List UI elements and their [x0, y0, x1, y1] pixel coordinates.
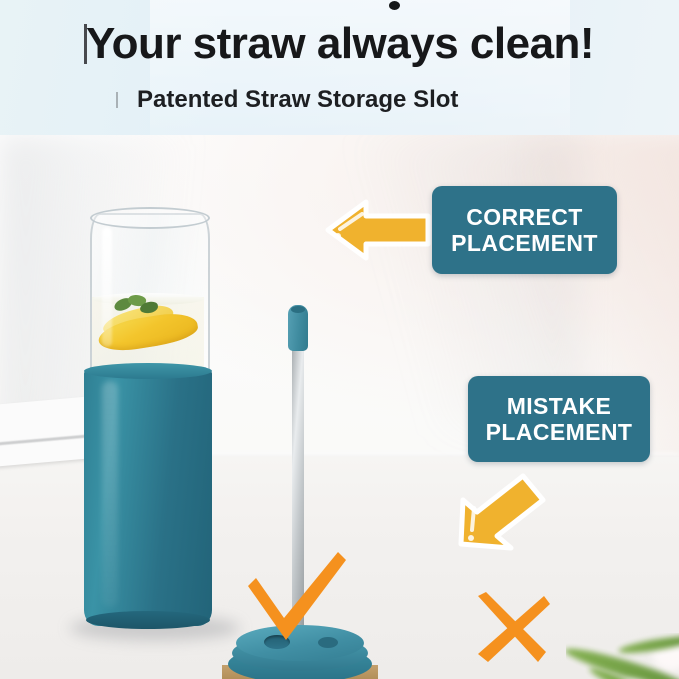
straw-tip-opening — [291, 306, 305, 313]
badge-correct-line1: CORRECT — [451, 204, 598, 230]
subtitle-accent-tick — [116, 92, 118, 108]
sleeve-base — [86, 611, 210, 629]
sleeve-highlight — [102, 381, 118, 607]
foreground-flora — [566, 633, 679, 679]
infographic-canvas: Your straw always clean! Patented Straw … — [0, 0, 679, 679]
header-band: Your straw always clean! Patented Straw … — [0, 0, 679, 135]
mint-leaves — [114, 295, 160, 315]
page-title: Your straw always clean! — [86, 22, 646, 66]
straw-silicone-tip — [288, 305, 308, 351]
badge-mistake-placement: MISTAKE PLACEMENT — [468, 376, 650, 462]
glass-rim — [90, 207, 210, 229]
sleeve-top-lip — [84, 363, 212, 379]
glass-highlight — [102, 227, 112, 347]
arrow-down-left-icon — [447, 472, 547, 564]
checkmark-icon — [240, 548, 348, 644]
header-speck — [389, 1, 400, 10]
arrow-left-icon — [322, 196, 434, 264]
page-subtitle: Patented Straw Storage Slot — [137, 88, 657, 112]
badge-mistake-line2: PLACEMENT — [486, 419, 633, 445]
badge-correct-line2: PLACEMENT — [451, 230, 598, 256]
badge-correct-placement: CORRECT PLACEMENT — [432, 186, 617, 274]
cross-icon — [472, 592, 550, 662]
glass-tumbler — [84, 213, 212, 643]
badge-mistake-line1: MISTAKE — [486, 393, 633, 419]
